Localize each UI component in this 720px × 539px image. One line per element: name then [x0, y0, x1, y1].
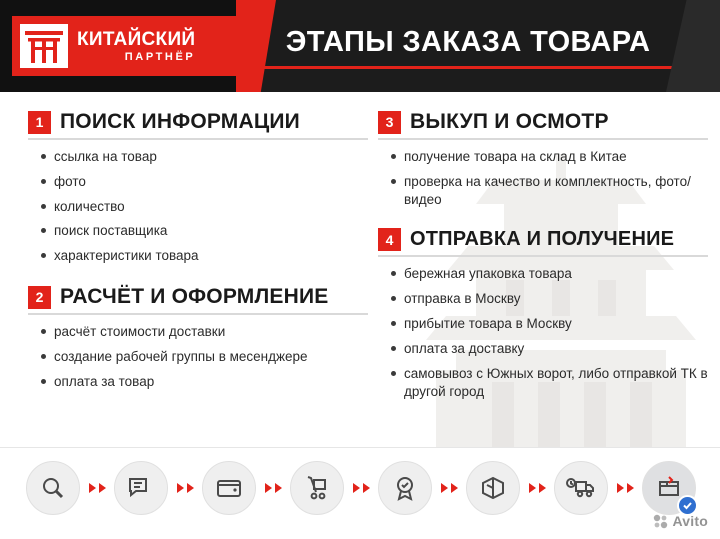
arrow-group-7 — [608, 483, 642, 493]
list-item: самовывоз с Южных ворот, либо отправкой … — [404, 365, 708, 401]
step-3: 3 ВЫКУП И ОСМОТР получение товара на скл… — [378, 110, 708, 208]
avito-watermark: Avito — [653, 513, 708, 529]
step-2-title: РАСЧЁТ И ОФОРМЛЕНИЕ — [60, 285, 328, 309]
arrow-icon — [441, 483, 448, 493]
footer-divider — [0, 447, 720, 448]
parcel-check-icon — [642, 461, 696, 515]
magnifier-icon — [26, 461, 80, 515]
arrow-group-4 — [344, 483, 378, 493]
arrow-icon — [265, 483, 272, 493]
list-item: фото — [54, 173, 368, 191]
step-4-list: бережная упаковка товара отправка в Моск… — [378, 265, 708, 400]
arrow-group-6 — [520, 483, 554, 493]
list-item: расчёт стоимости доставки — [54, 323, 368, 341]
left-column: 1 ПОИСК ИНФОРМАЦИИ ссылка на товар фото … — [28, 92, 368, 398]
step-1-divider — [28, 138, 368, 140]
list-item: оплата за товар — [54, 373, 368, 391]
step-3-list: получение товара на склад в Китае провер… — [378, 148, 708, 208]
list-item: проверка на качество и комплектность, фо… — [404, 173, 708, 209]
right-column: 3 ВЫКУП И ОСМОТР получение товара на скл… — [378, 92, 708, 407]
arrow-group-1 — [80, 483, 114, 493]
quality-seal-icon — [378, 461, 432, 515]
list-item: создание рабочей группы в месенджере — [54, 348, 368, 366]
list-item: получение товара на склад в Китае — [404, 148, 708, 166]
arrow-group-5 — [432, 483, 466, 493]
header-bar: КИТАЙСКИЙ ПАРТНЁР ЭТАПЫ ЗАКАЗА ТОВАРА — [0, 0, 720, 92]
step-2-divider — [28, 313, 368, 315]
brand-logo: КИТАЙСКИЙ ПАРТНЁР — [12, 16, 240, 76]
arrow-icon — [177, 483, 184, 493]
list-item: характеристики товара — [54, 247, 368, 265]
step-4-divider — [378, 255, 708, 257]
arrow-icon — [89, 483, 96, 493]
content-area: 1 ПОИСК ИНФОРМАЦИИ ссылка на товар фото … — [0, 92, 720, 447]
avito-logo-icon — [653, 514, 668, 529]
hand-truck-icon — [290, 461, 344, 515]
step-2-header: 2 РАСЧЁТ И ОФОРМЛЕНИЕ — [28, 285, 368, 309]
arrow-icon — [275, 483, 282, 493]
step-4-title: ОТПРАВКА И ПОЛУЧЕНИЕ — [410, 228, 674, 251]
arrow-icon — [539, 483, 546, 493]
step-4-header: 4 ОТПРАВКА И ПОЛУЧЕНИЕ — [378, 228, 708, 251]
step-1-list: ссылка на товар фото количество поиск по… — [28, 148, 368, 265]
process-icon-row — [26, 457, 696, 519]
step-2: 2 РАСЧЁТ И ОФОРМЛЕНИЕ расчёт стоимости д… — [28, 285, 368, 390]
arrow-icon — [353, 483, 360, 493]
list-item: прибытие товара в Москву — [404, 315, 708, 333]
step-2-number: 2 — [28, 286, 51, 309]
brand-name-line2: ПАРТНЁР — [77, 52, 195, 63]
list-item: ссылка на товар — [54, 148, 368, 166]
step-3-number: 3 — [378, 111, 401, 134]
step-3-title: ВЫКУП И ОСМОТР — [410, 110, 609, 134]
step-2-list: расчёт стоимости доставки создание рабоч… — [28, 323, 368, 390]
delivery-truck-icon — [554, 461, 608, 515]
arrow-icon — [627, 483, 634, 493]
brand-logo-text: КИТАЙСКИЙ ПАРТНЁР — [77, 30, 195, 63]
step-3-divider — [378, 138, 708, 140]
chat-icon — [114, 461, 168, 515]
footer-process-strip: Avito — [0, 447, 720, 539]
avito-label: Avito — [673, 513, 708, 529]
arrow-icon — [529, 483, 536, 493]
arrow-group-2 — [168, 483, 202, 493]
arrow-group-3 — [256, 483, 290, 493]
arrow-icon — [99, 483, 106, 493]
step-3-header: 3 ВЫКУП И ОСМОТР — [378, 110, 708, 134]
title-underline — [258, 66, 678, 69]
arrow-icon — [187, 483, 194, 493]
step-1-number: 1 — [28, 111, 51, 134]
step-1-header: 1 ПОИСК ИНФОРМАЦИИ — [28, 110, 368, 134]
step-4: 4 ОТПРАВКА И ПОЛУЧЕНИЕ бережная упаковка… — [378, 228, 708, 400]
arrow-icon — [617, 483, 624, 493]
page-title: ЭТАПЫ ЗАКАЗА ТОВАРА — [258, 26, 678, 59]
box-package-icon — [466, 461, 520, 515]
step-1: 1 ПОИСК ИНФОРМАЦИИ ссылка на товар фото … — [28, 110, 368, 265]
gate-logo-icon — [20, 24, 68, 68]
brand-name-line1: КИТАЙСКИЙ — [77, 30, 195, 49]
poster-root: КИТАЙСКИЙ ПАРТНЁР ЭТАПЫ ЗАКАЗА ТОВАРА 1 … — [0, 0, 720, 539]
step-1-title: ПОИСК ИНФОРМАЦИИ — [60, 110, 300, 134]
list-item: бережная упаковка товара — [404, 265, 708, 283]
list-item: количество — [54, 198, 368, 216]
wallet-icon — [202, 461, 256, 515]
list-item: поиск поставщика — [54, 222, 368, 240]
step-4-number: 4 — [378, 228, 401, 251]
list-item: оплата за доставку — [404, 340, 708, 358]
list-item: отправка в Москву — [404, 290, 708, 308]
arrow-icon — [363, 483, 370, 493]
arrow-icon — [451, 483, 458, 493]
